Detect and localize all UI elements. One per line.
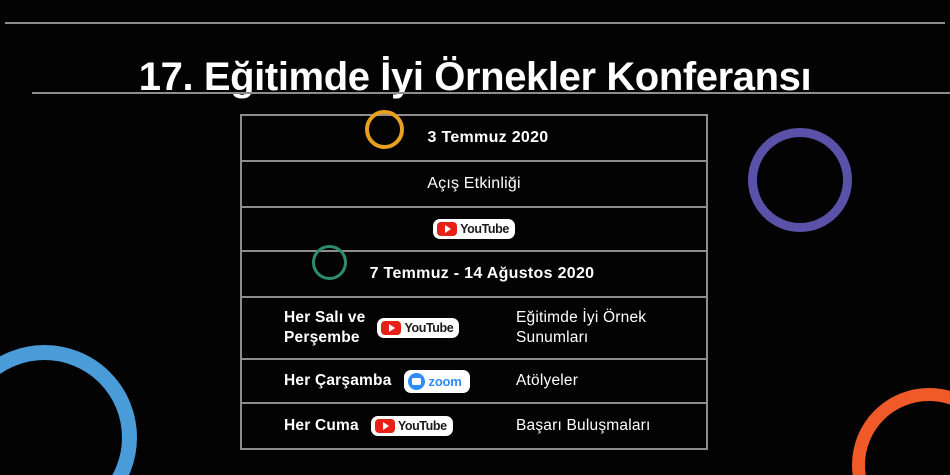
zoom-wordmark: zoom bbox=[429, 374, 462, 389]
header-bottom-rule bbox=[32, 92, 950, 94]
youtube-badge-opening: YouTube bbox=[433, 219, 515, 239]
activity-label: Başarı Buluşmaları bbox=[510, 416, 706, 436]
table-row: Her Cuma YouTube Başarı Buluşmaları bbox=[242, 404, 706, 448]
orange-corner-circle-icon bbox=[852, 388, 950, 475]
schedule-table: 3 Temmuz 2020 Açış Etkinliği YouTube 7 T… bbox=[240, 114, 708, 450]
table-row-opening-platform: YouTube bbox=[242, 208, 706, 252]
zoom-badge-wednesday: zoom bbox=[404, 370, 470, 393]
schedule-days-cell: Her Salı ve Perşembe YouTube bbox=[242, 308, 510, 349]
opening-event-text: Açış Etkinliği bbox=[427, 175, 521, 193]
blue-corner-circle-icon bbox=[0, 345, 137, 475]
schedule-days-cell: Her Çarşamba zoom bbox=[242, 370, 510, 393]
table-row-opening-event: Açış Etkinliği bbox=[242, 162, 706, 208]
header-top-rule bbox=[5, 22, 945, 24]
table-row: Her Salı ve Perşembe YouTube Eğitimde İy… bbox=[242, 298, 706, 360]
zoom-camera-icon bbox=[408, 373, 425, 390]
youtube-wordmark: YouTube bbox=[404, 321, 453, 335]
day-label: Her Çarşamba bbox=[284, 371, 392, 391]
youtube-play-icon bbox=[381, 321, 401, 335]
youtube-wordmark: YouTube bbox=[398, 419, 447, 433]
youtube-play-icon bbox=[375, 419, 395, 433]
schedule-days-cell: Her Cuma YouTube bbox=[242, 416, 510, 436]
opening-date-text: 3 Temmuz 2020 bbox=[400, 129, 549, 147]
youtube-badge-tue-thu: YouTube bbox=[377, 318, 459, 338]
table-row-opening-date: 3 Temmuz 2020 bbox=[242, 116, 706, 162]
day-label: Her Salı ve Perşembe bbox=[284, 308, 365, 349]
youtube-badge-friday: YouTube bbox=[371, 416, 453, 436]
table-row: Her Çarşamba zoom Atölyeler bbox=[242, 360, 706, 404]
youtube-wordmark: YouTube bbox=[460, 222, 509, 236]
table-row-period-range: 7 Temmuz - 14 Ağustos 2020 bbox=[242, 252, 706, 298]
period-date-range-text: 7 Temmuz - 14 Ağustos 2020 bbox=[354, 265, 595, 283]
conference-schedule-slide: 17. Eğitimde İyi Örnekler Konferansı 3 T… bbox=[0, 0, 950, 475]
activity-label: Eğitimde İyi Örnek Sunumları bbox=[510, 308, 706, 349]
day-label: Her Cuma bbox=[284, 416, 359, 436]
youtube-play-icon bbox=[437, 222, 457, 236]
activity-label: Atölyeler bbox=[510, 371, 706, 391]
purple-corner-circle-icon bbox=[748, 128, 852, 232]
